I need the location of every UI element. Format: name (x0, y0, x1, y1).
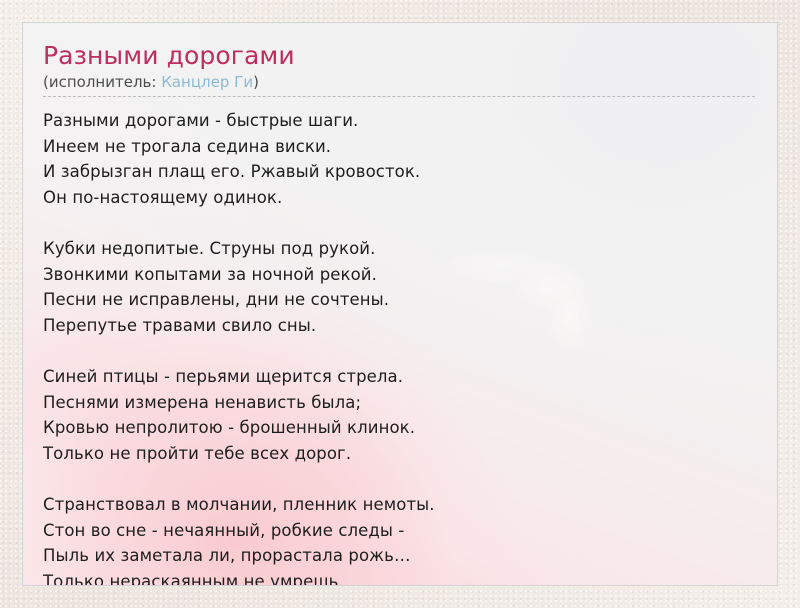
lyric-line: Стон во сне - нечаянный, робкие следы - (43, 518, 753, 544)
performer-line: (исполнитель: Канцлер Ги) (43, 73, 753, 92)
lyrics-body: Разными дорогами - быстрые шаги. Инеем н… (43, 108, 753, 586)
lyrics-stanza: Кубки недопитые. Струны под рукой. Звонк… (43, 236, 753, 338)
performer-label: (исполнитель: (43, 73, 161, 91)
performer-label-suffix: ) (253, 73, 259, 91)
lyric-line: Разными дорогами - быстрые шаги. (43, 108, 753, 134)
lyric-line: Звонкими копытами за ночной рекой. (43, 262, 753, 288)
lyric-line: Странствовал в молчании, пленник немоты. (43, 492, 753, 518)
lyric-line: Синей птицы - перьями щерится стрела. (43, 364, 753, 390)
lyric-line: Он по-настоящему одинок. (43, 185, 753, 211)
lyric-line: Кубки недопитые. Струны под рукой. (43, 236, 753, 262)
lyrics-stanza: Разными дорогами - быстрые шаги. Инеем н… (43, 108, 753, 210)
artist-link[interactable]: Канцлер Ги (161, 73, 253, 91)
slide-frame: Разными дорогами (исполнитель: Канцлер Г… (0, 0, 800, 608)
lyric-line: Перепутье травами свило сны. (43, 313, 753, 339)
slide-content: Разными дорогами (исполнитель: Канцлер Г… (23, 23, 777, 585)
lyric-line: Только нераскаянным не умрешь. (43, 569, 753, 586)
lyric-line: Инеем не трогала седина виски. (43, 134, 753, 160)
song-title: Разными дорогами (43, 41, 753, 71)
lyric-line: Пыль их заметала ли, прорастала рожь… (43, 543, 753, 569)
lyric-line: И забрызган плащ его. Ржавый кровосток. (43, 159, 753, 185)
header-divider (43, 96, 755, 97)
lyric-line: Только не пройти тебе всех дорог. (43, 441, 753, 467)
lyric-line: Песни не исправлены, дни не сочтены. (43, 287, 753, 313)
lyrics-stanza: Синей птицы - перьями щерится стрела. Пе… (43, 364, 753, 466)
presentation-slide: Разными дорогами (исполнитель: Канцлер Г… (22, 22, 778, 586)
lyric-line: Песнями измерена ненависть была; (43, 390, 753, 416)
lyric-line: Кровью непролитою - брошенный клинок. (43, 415, 753, 441)
lyrics-stanza: Странствовал в молчании, пленник немоты.… (43, 492, 753, 586)
